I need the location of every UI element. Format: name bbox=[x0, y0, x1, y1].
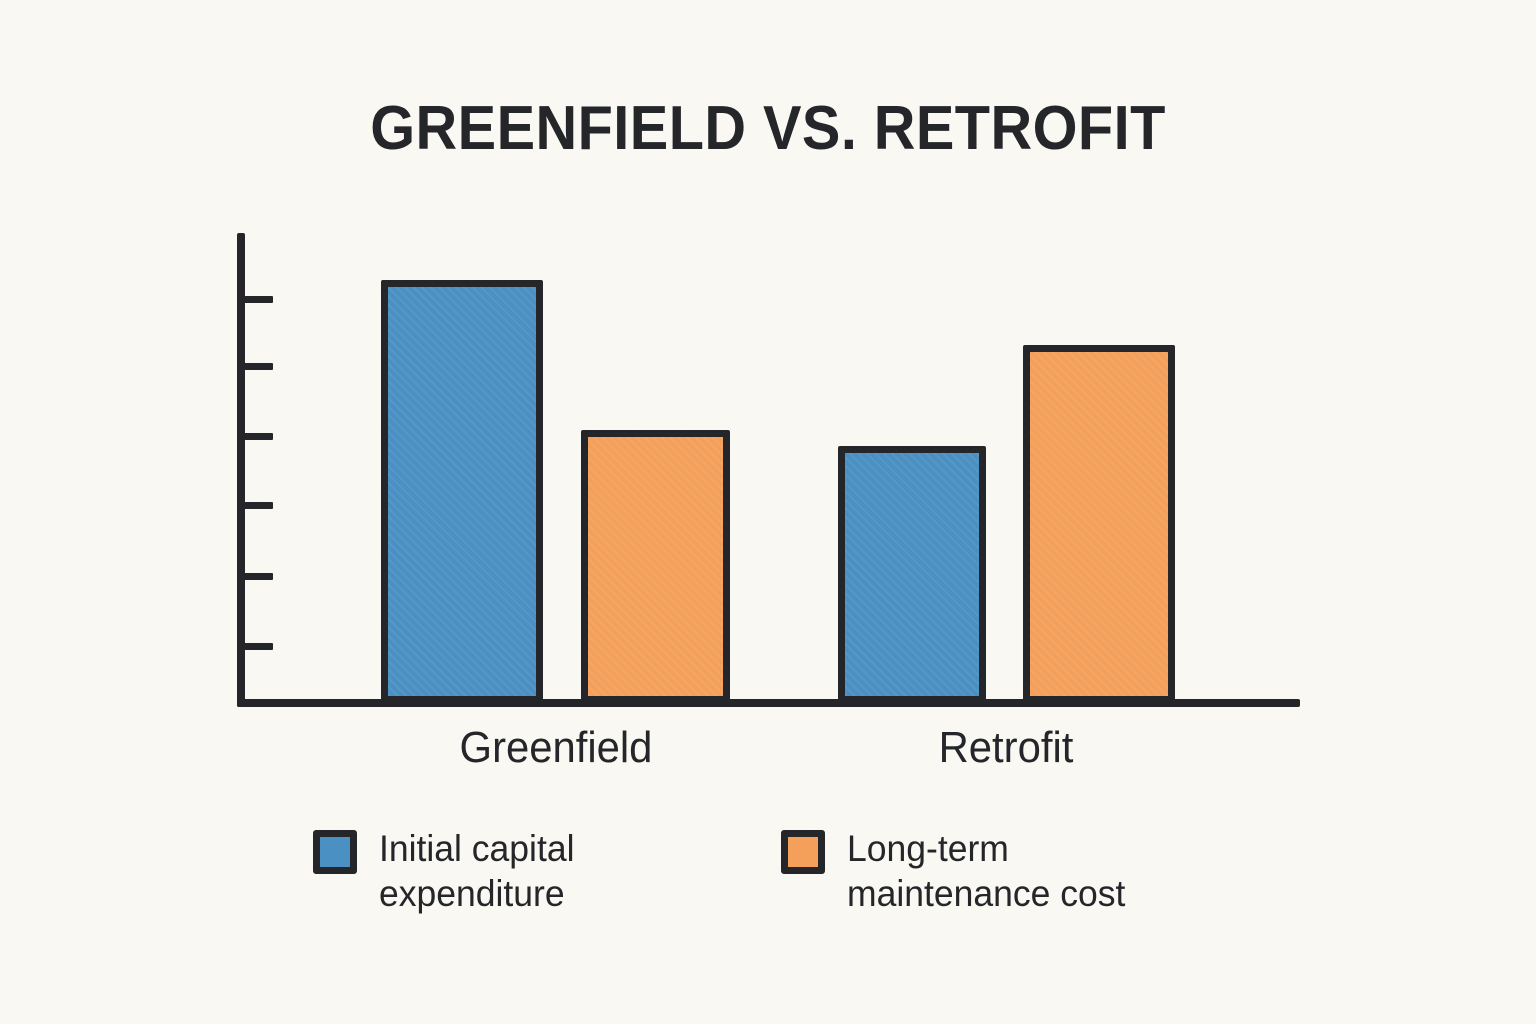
legend-item-long-term-maintenance-cost[interactable]: Long-term maintenance cost bbox=[781, 826, 1137, 916]
bar-retrofit-capex[interactable] bbox=[838, 446, 986, 703]
bar-retrofit-maint[interactable] bbox=[1023, 345, 1175, 703]
bar-greenfield-maint[interactable] bbox=[581, 430, 730, 703]
category-label-greenfield: Greenfield bbox=[366, 722, 746, 774]
legend-label-capex: Initial capital expenditure bbox=[379, 826, 574, 916]
legend-item-initial-capital-expenditure[interactable]: Initial capital expenditure bbox=[313, 826, 583, 916]
y-axis-tick-3 bbox=[243, 502, 273, 509]
legend-swatch-capex-icon bbox=[313, 830, 357, 874]
y-axis-tick-1 bbox=[243, 363, 273, 370]
y-axis-tick-4 bbox=[243, 573, 273, 580]
chart-legend: Initial capital expenditure Long-term ma… bbox=[313, 826, 1273, 936]
legend-label-maint: Long-term maintenance cost bbox=[847, 826, 1125, 916]
y-axis-tick-5 bbox=[243, 643, 273, 650]
category-label-retrofit: Retrofit bbox=[816, 722, 1196, 774]
y-axis-line bbox=[237, 233, 245, 707]
y-axis-tick-2 bbox=[243, 433, 273, 440]
bar-greenfield-capex[interactable] bbox=[381, 280, 543, 703]
y-axis-tick-0 bbox=[243, 296, 273, 303]
bar-chart-figure: GREENFIELD VS. RETROFIT GreenfieldRetrof… bbox=[0, 0, 1536, 1024]
legend-swatch-maint-icon bbox=[781, 830, 825, 874]
